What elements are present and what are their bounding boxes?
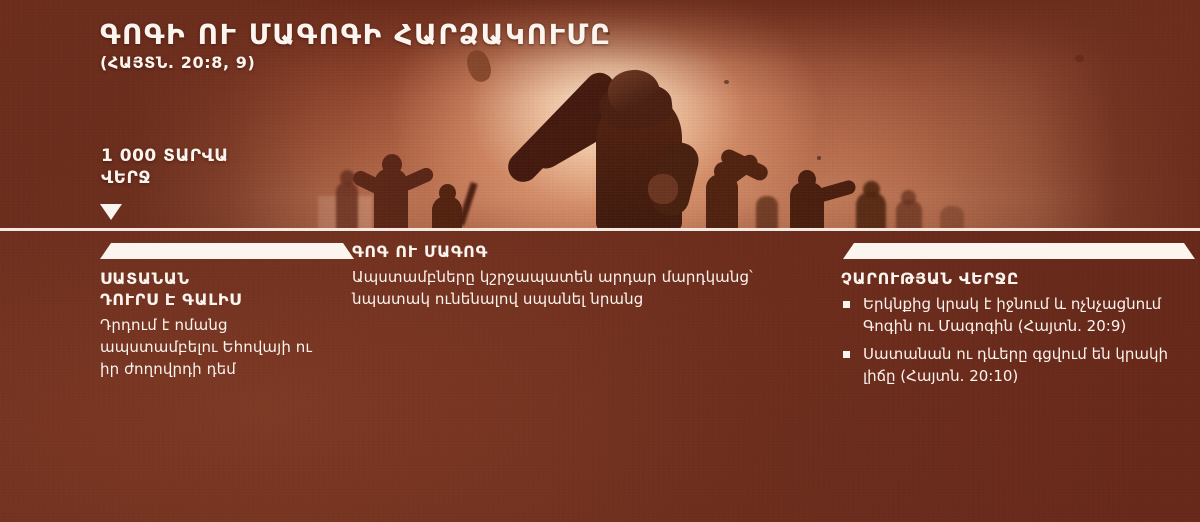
column-three-heading: ՉԱՐՈՒԹՅԱՆ ՎԵՐՋԸ xyxy=(841,268,1171,289)
column-gog-and-magog: ԳՈԳ ՈՒ ՄԱԳՈԳ Ապստամբները կշրջապատեն արդա… xyxy=(352,241,814,310)
column-two-heading: ԳՈԳ ՈՒ ՄԱԳՈԳ xyxy=(352,241,814,262)
column-one-heading: ՍԱՏԱՆԱՆ ԴՈՒՐՍ Է ԳԱԼԻՍ xyxy=(100,268,332,310)
column-one-body: Դրդում է ոմանց ապստամբելու Եհովայի ու իր… xyxy=(100,314,332,380)
column-three-bullet-list: Երկնքից կրակ է իջնում և ոչնչացնում Գոգին… xyxy=(841,293,1171,387)
column-one-heading-line1: ՍԱՏԱՆԱՆ xyxy=(100,269,190,288)
timeline-label-line2: ՎԵՐՋ xyxy=(101,167,229,189)
column-one-heading-line2: ԴՈՒՐՍ Է ԳԱԼԻՍ xyxy=(100,290,242,309)
infographic-page: ԳՈԳԻ ՈՒ ՄԱԳՈԳԻ ՀԱՐՁԱԿՈՒՄԸ (ՀԱՅՏՆ. 20:8, … xyxy=(0,0,1200,522)
column-satan-released: ՍԱՏԱՆԱՆ ԴՈՒՐՍ Է ԳԱԼԻՍ Դրդում է ոմանց ապս… xyxy=(100,268,332,380)
arrow-up-icon-column-one xyxy=(100,243,354,259)
arrow-up-icon-column-three xyxy=(843,243,1195,259)
page-subtitle-scripture: (ՀԱՅՏՆ. 20:8, 9) xyxy=(100,53,255,72)
list-item-text: Երկնքից կրակ է իջնում և ոչնչացնում Գոգին… xyxy=(863,295,1161,335)
bullet-square-icon xyxy=(843,351,850,358)
list-item: Երկնքից կրակ է իջնում և ոչնչացնում Գոգին… xyxy=(841,293,1171,337)
timeline-label-line1: 1 000 ՏԱՐՎԱ xyxy=(101,145,229,167)
page-title: ԳՈԳԻ ՈՒ ՄԱԳՈԳԻ ՀԱՐՁԱԿՈՒՄԸ xyxy=(100,18,612,51)
column-end-of-wickedness: ՉԱՐՈՒԹՅԱՆ ՎԵՐՋԸ Երկնքից կրակ է իջնում և … xyxy=(841,268,1171,393)
timeline-divider xyxy=(0,228,1200,231)
timeline-label: 1 000 ՏԱՐՎԱ ՎԵՐՋ xyxy=(101,145,229,189)
column-two-body: Ապստամբները կշրջապատեն արդար մարդկանց՝ ն… xyxy=(352,266,814,310)
list-item-text: Սատանան ու դևերը գցվում են կրակի լիճը (Հ… xyxy=(863,345,1168,385)
bullet-square-icon xyxy=(843,301,850,308)
arrow-down-icon xyxy=(100,204,122,220)
list-item: Սատանան ու դևերը գցվում են կրակի լիճը (Հ… xyxy=(841,343,1171,387)
